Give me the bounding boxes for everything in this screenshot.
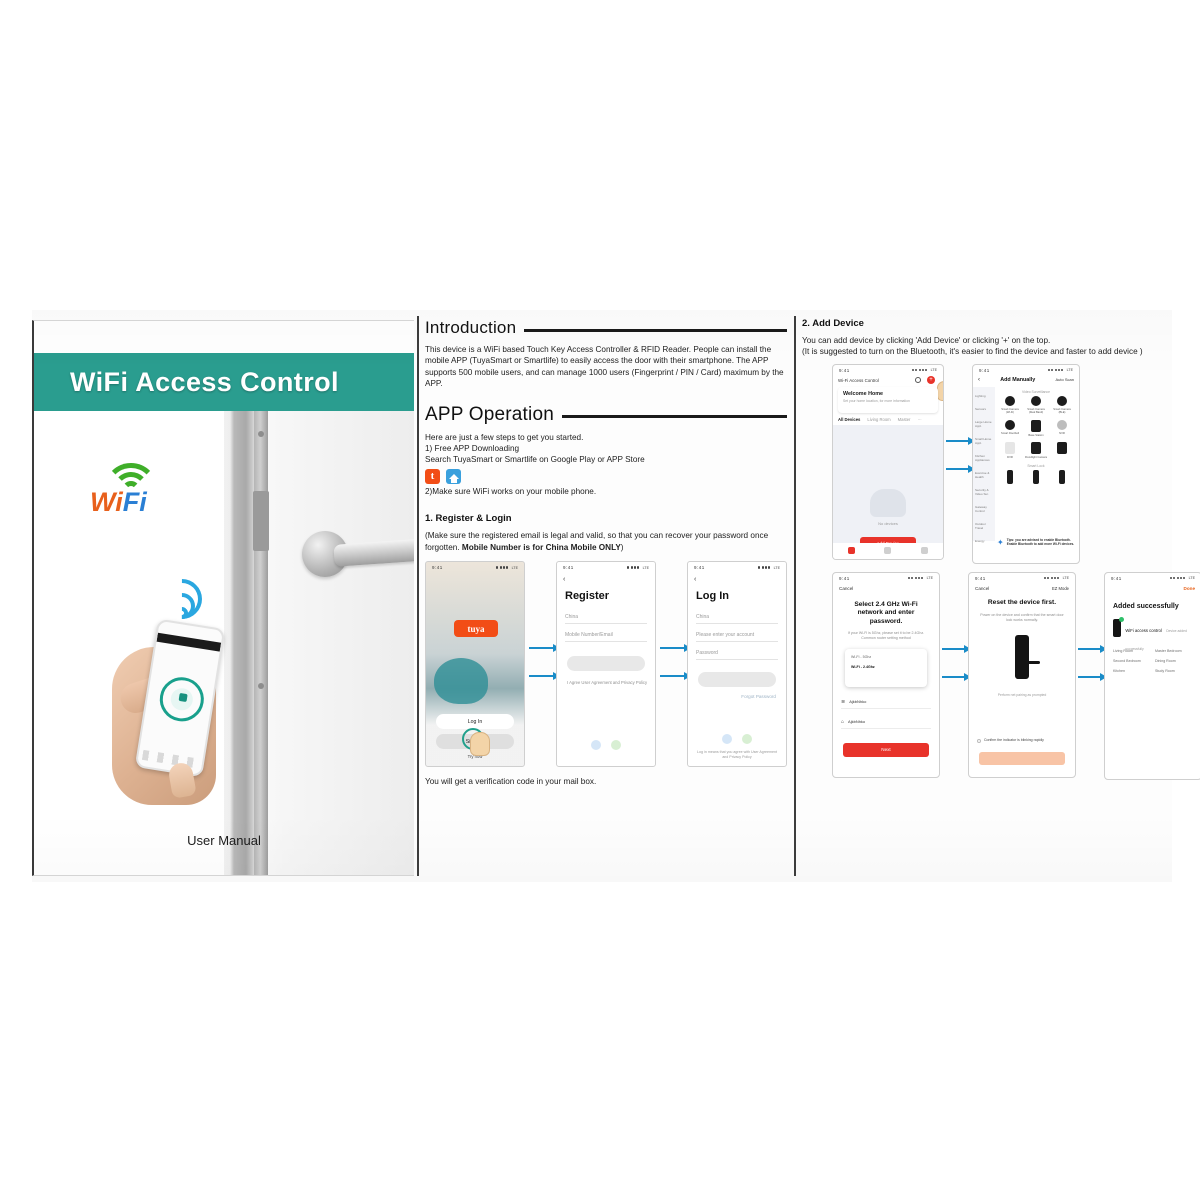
status-icons: LTE bbox=[908, 576, 933, 580]
room-tabs[interactable]: All Devices Living Room Master ··· bbox=[838, 417, 922, 422]
screen-wifi-select: 9:41 LTE Cancel Select 2.4 GHz Wi-Fi net… bbox=[832, 572, 940, 778]
lock-icon: ⌂ bbox=[841, 719, 844, 725]
flow-arrow bbox=[660, 675, 690, 677]
status-time: 9:41 bbox=[563, 565, 574, 570]
checkbox-icon[interactable] bbox=[977, 739, 981, 743]
tab-all-devices[interactable]: All Devices bbox=[838, 417, 860, 422]
social-login-icon bbox=[611, 740, 621, 750]
category-item[interactable]: Outdoor Travel bbox=[973, 518, 995, 535]
wifi-icon: ≋ bbox=[841, 699, 845, 705]
door-lock-illustration bbox=[1015, 635, 1029, 679]
home-header-title[interactable]: Wi-Fi Access Control bbox=[838, 378, 879, 383]
device-type-item[interactable]: Base Station bbox=[1025, 420, 1047, 437]
status-bar: 9:41 LTE bbox=[969, 573, 1075, 584]
bluetooth-icon: ✦ bbox=[997, 538, 1004, 547]
device-type-item[interactable] bbox=[1051, 470, 1073, 486]
welcome-title: Welcome Home bbox=[843, 391, 933, 397]
category-item[interactable]: Sensors bbox=[973, 403, 995, 416]
login-button[interactable] bbox=[698, 672, 776, 687]
status-icons: LTE bbox=[912, 368, 937, 372]
screen-title: Add Manually bbox=[1000, 377, 1035, 383]
flow-arrow bbox=[942, 648, 970, 650]
register-login-note: (Make sure the registered email is legal… bbox=[425, 530, 787, 553]
app-operation-step2: 2)Make sure WiFi works on your mobile ph… bbox=[425, 486, 787, 497]
confirm-text: Confirm the indicator is blinking rapidl… bbox=[984, 738, 1044, 743]
category-item[interactable]: Gateway Control bbox=[973, 501, 995, 518]
screen-added-success: 9:41 LTE Done Added successfully WiFi ac… bbox=[1104, 572, 1200, 780]
add-plus-button[interactable]: + bbox=[927, 376, 935, 384]
bell-icon[interactable] bbox=[915, 377, 921, 383]
screen-login: 9:41 LTE ‹ Log In China Please enter you… bbox=[687, 561, 787, 767]
empty-state-illustration bbox=[870, 489, 906, 517]
device-type-item[interactable]: NVR bbox=[1051, 420, 1073, 437]
door-handle-lever bbox=[333, 537, 414, 567]
pointing-hand-icon bbox=[937, 381, 944, 401]
social-login-icon bbox=[591, 740, 601, 750]
category-item[interactable]: Security & Video Sur. bbox=[973, 484, 995, 501]
status-icons: LTE bbox=[496, 566, 518, 570]
door-lock-plate bbox=[253, 491, 269, 551]
user-manual-label: User Manual bbox=[34, 833, 414, 848]
empty-state-text: No devices bbox=[833, 521, 943, 526]
status-bar: 9:41 LTE bbox=[426, 562, 524, 573]
register-login-heading: 1. Register & Login bbox=[425, 513, 787, 524]
add-device-screens-row2: 9:41 LTE Cancel Select 2.4 GHz Wi-Fi net… bbox=[802, 572, 1172, 784]
introduction-panel: Introduction This device is a WiFi based… bbox=[425, 318, 787, 878]
screen-splash: 9:41 LTE tuya Log In Sign Up Try now bbox=[425, 561, 525, 767]
unlock-button-icon bbox=[157, 674, 207, 724]
flow-arrow bbox=[1078, 648, 1106, 650]
app-store-icons: t bbox=[425, 469, 787, 484]
social-login-icon bbox=[742, 734, 752, 744]
social-login-row[interactable] bbox=[557, 740, 655, 750]
wifi-logo-wi: Wi bbox=[90, 487, 123, 517]
screen-title: Select 2.4 GHz Wi-Fi network and enter p… bbox=[843, 601, 929, 627]
group-title: Smart Lock bbox=[997, 464, 1075, 468]
hand-holding-phone-photo bbox=[112, 613, 232, 813]
app-operation-step1: 1) Free APP Downloading bbox=[425, 443, 787, 454]
room-chip[interactable]: Master Bedroom bbox=[1155, 649, 1193, 653]
device-type-item[interactable]: Smart Camera (Wi-Fi) bbox=[999, 396, 1021, 415]
done-button[interactable]: Done bbox=[1184, 586, 1195, 591]
scanned-manual-spread: WiFi Access Control WiFi bbox=[32, 310, 1172, 882]
back-icon[interactable]: ‹ bbox=[694, 576, 696, 583]
tuya-logo: tuya bbox=[454, 620, 498, 637]
status-time: 9:41 bbox=[432, 565, 443, 570]
room-chip[interactable]: Dining Room bbox=[1155, 659, 1193, 663]
back-icon[interactable]: ‹ bbox=[563, 576, 565, 583]
app-operation-intro: Here are just a few steps to get you sta… bbox=[425, 432, 787, 443]
flow-arrow bbox=[946, 468, 974, 470]
wifi-option-blank bbox=[845, 678, 927, 684]
tab-more[interactable]: ··· bbox=[917, 417, 921, 422]
country-select[interactable]: China bbox=[696, 614, 778, 624]
add-manually-header: ‹ Add Manually Auto Scan bbox=[973, 377, 1079, 383]
status-time: 9:41 bbox=[1111, 576, 1122, 581]
cancel-button[interactable]: Cancel bbox=[975, 586, 989, 591]
flow-arrow bbox=[946, 440, 974, 442]
flow-arrow bbox=[529, 675, 559, 677]
category-item[interactable]: Large Home Appl. bbox=[973, 416, 995, 433]
wifi-logo: WiFi bbox=[90, 461, 170, 533]
tab-me-icon[interactable] bbox=[921, 547, 928, 554]
flow-arrow bbox=[1078, 676, 1106, 678]
wifi-logo-text: WiFi bbox=[90, 487, 147, 518]
confirm-indicator-row[interactable]: Confirm the indicator is blinking rapidl… bbox=[977, 738, 1067, 743]
add-device-line1: You can add device by clicking 'Add Devi… bbox=[802, 335, 1172, 346]
screen-home: 9:41 LTE Wi-Fi Access Control + Welcome … bbox=[832, 364, 944, 560]
login-button[interactable]: Log In bbox=[436, 714, 514, 729]
flow-arrow bbox=[660, 647, 690, 649]
category-item[interactable]: Exercise & Health bbox=[973, 467, 995, 484]
status-icons: LTE bbox=[1044, 576, 1069, 580]
category-item[interactable]: Lighting bbox=[973, 390, 995, 403]
room-chip[interactable]: Living Room bbox=[1113, 649, 1151, 653]
screen-title: Register bbox=[565, 590, 609, 602]
device-type-item[interactable]: Smart Camera (BLE) bbox=[1051, 396, 1073, 415]
next-button[interactable] bbox=[979, 752, 1065, 765]
heading-rule bbox=[562, 415, 787, 418]
app-operation-heading: APP Operation bbox=[425, 404, 554, 426]
screen-title: Log In bbox=[696, 590, 729, 602]
device-name[interactable]: WiFi access control bbox=[1125, 628, 1161, 633]
introduction-heading: Introduction bbox=[425, 318, 516, 338]
agreement-checkbox[interactable]: I Agree User Agreement and Privacy Polic… bbox=[567, 680, 647, 685]
status-bar: 9:41 LTE bbox=[557, 562, 655, 573]
device-type-item[interactable] bbox=[1051, 442, 1073, 459]
device-type-item[interactable]: DVR bbox=[999, 442, 1021, 459]
heading-rule bbox=[524, 329, 787, 332]
bottom-tab-bar[interactable] bbox=[833, 543, 943, 559]
get-code-button[interactable] bbox=[567, 656, 645, 671]
status-bar: 9:41 LTE bbox=[833, 365, 943, 376]
device-list-empty: No devices Add Device bbox=[833, 425, 943, 543]
screen-subtitle: Power on the device and confirm that the… bbox=[979, 613, 1065, 623]
account-input[interactable]: Please enter your account bbox=[696, 632, 778, 642]
status-bar: 9:41 LTE bbox=[1105, 573, 1200, 584]
tab-smart-icon[interactable] bbox=[884, 547, 891, 554]
add-device-panel: 2. Add Device You can add device by clic… bbox=[802, 318, 1172, 878]
screen-subtitle: If your Wi-Fi is 5Ghz, please set it to … bbox=[843, 631, 929, 641]
screen-add-manually: 9:41 LTE ‹ Add Manually Auto Scan Lighti… bbox=[972, 364, 1080, 564]
add-device-screens-row1: 9:41 LTE Wi-Fi Access Control + Welcome … bbox=[802, 364, 1172, 564]
screen-title: Added successfully bbox=[1113, 603, 1179, 610]
wifi-logo-fi: Fi bbox=[123, 487, 147, 517]
account-input[interactable]: Mobile Number/Email bbox=[565, 632, 647, 642]
room-chip[interactable]: Second Bedroom bbox=[1113, 659, 1151, 663]
status-icons: LTE bbox=[627, 566, 649, 570]
status-icons: LTE bbox=[758, 566, 780, 570]
tab-living-room[interactable]: Living Room bbox=[867, 417, 890, 422]
room-chip-grid[interactable]: Living Room Master Bedroom Second Bedroo… bbox=[1113, 649, 1193, 673]
screen-reset-device: 9:41 LTE Cancel EZ Mode Reset the device… bbox=[968, 572, 1076, 778]
cover-panel: WiFi Access Control WiFi bbox=[32, 320, 414, 876]
category-item[interactable]: Small Home Appl. bbox=[973, 433, 995, 450]
app-operation-heading-row: APP Operation bbox=[425, 404, 787, 426]
status-icons: LTE bbox=[1170, 576, 1195, 580]
status-time: 9:41 bbox=[694, 565, 705, 570]
room-chip[interactable]: Kitchen bbox=[1113, 669, 1151, 673]
status-time: 9:41 bbox=[979, 368, 990, 373]
smartlife-app-icon[interactable] bbox=[446, 469, 461, 484]
status-icons: LTE bbox=[1048, 368, 1073, 372]
screen-title: Reset the device first. bbox=[979, 599, 1065, 608]
group-title: Video Surveillance bbox=[997, 390, 1075, 394]
status-time: 9:41 bbox=[839, 576, 850, 581]
ssid-row[interactable]: ≋AjkbNhko bbox=[841, 699, 931, 709]
room-chip[interactable]: Study Room bbox=[1155, 669, 1193, 673]
status-bar: 9:41 LTE bbox=[973, 365, 1079, 376]
flow-arrow bbox=[529, 647, 559, 649]
introduction-paragraph: This device is a WiFi based Touch Key Ac… bbox=[425, 344, 787, 390]
login-footer-note: Log in means that you agree with User Ag… bbox=[696, 750, 778, 760]
add-device-heading: 2. Add Device bbox=[802, 318, 1172, 329]
flow-arrow bbox=[942, 676, 970, 678]
app-operation-step1-detail: Search TuyaSmart or Smartlife on Google … bbox=[425, 454, 787, 465]
screen-register: 9:41 LTE ‹ Register China Mobile Number/… bbox=[556, 561, 656, 767]
device-type-item[interactable]: Floodlight Camera bbox=[1025, 442, 1047, 459]
panel-divider-right bbox=[794, 316, 796, 876]
welcome-sub: Set your home location, for more informa… bbox=[843, 399, 933, 403]
introduction-heading-row: Introduction bbox=[425, 318, 787, 338]
tab-home-icon[interactable] bbox=[848, 547, 855, 554]
welcome-card[interactable]: Welcome Home Set your home location, for… bbox=[838, 387, 938, 413]
password-row[interactable]: ⌂AjkbNhko bbox=[841, 719, 931, 729]
back-icon[interactable]: ‹ bbox=[978, 377, 980, 383]
status-bar: 9:41 LTE bbox=[688, 562, 786, 573]
next-button[interactable]: Next bbox=[843, 743, 929, 757]
register-login-screens: 9:41 LTE tuya Log In Sign Up Try now 9:4… bbox=[425, 561, 787, 771]
door-strike-plate bbox=[254, 373, 268, 875]
bluetooth-tip: ✦ Tips: you are advised to enable Blueto… bbox=[997, 538, 1075, 547]
add-device-line2: (It is suggested to turn on the Bluetoot… bbox=[802, 346, 1172, 357]
status-bar: 9:41 LTE bbox=[833, 573, 939, 584]
wifi-option-5g[interactable]: Wi-Fi - 5Ghz bbox=[845, 652, 927, 662]
cover-title: WiFi Access Control bbox=[70, 367, 339, 398]
cover-banner: WiFi Access Control bbox=[34, 353, 414, 411]
lock-device-icon bbox=[1113, 619, 1121, 637]
pointing-hand-icon bbox=[470, 732, 490, 756]
manual-page: WiFi Access Control WiFi bbox=[0, 0, 1200, 1200]
device-type-item[interactable]: Smart Camera (Dual Band) bbox=[1025, 396, 1047, 415]
category-item[interactable]: Energy bbox=[973, 535, 995, 548]
door-photo bbox=[224, 373, 414, 875]
device-type-grid: Video Surveillance Smart Camera (Wi-Fi) … bbox=[997, 387, 1075, 492]
reset-note: Perform net pairing as prompted bbox=[981, 693, 1063, 697]
wifi-band-popup[interactable]: Wi-Fi - 5Ghz Wi-Fi - 2.4Ghz bbox=[845, 649, 927, 687]
auto-scan-button[interactable]: Auto Scan bbox=[1056, 377, 1074, 382]
status-time: 9:41 bbox=[975, 576, 986, 581]
cancel-button[interactable]: Cancel bbox=[839, 586, 853, 591]
social-login-icon bbox=[722, 734, 732, 744]
country-select[interactable]: China bbox=[565, 614, 647, 624]
tab-master[interactable]: Master bbox=[898, 417, 911, 422]
verification-caption: You will get a verification code in your… bbox=[425, 777, 787, 786]
password-input[interactable]: Password bbox=[696, 650, 778, 660]
bluetooth-tip-text: Tips: you are advised to enable Bluetoot… bbox=[1007, 538, 1075, 546]
social-login-row[interactable] bbox=[688, 734, 786, 744]
tuya-app-icon[interactable]: t bbox=[425, 469, 440, 484]
category-sidebar[interactable]: Lighting Sensors Large Home Appl. Small … bbox=[973, 387, 995, 541]
panel-divider-left bbox=[417, 316, 419, 876]
wifi-option-24g[interactable]: Wi-Fi - 2.4Ghz bbox=[845, 662, 927, 672]
status-time: 9:41 bbox=[839, 368, 850, 373]
category-item[interactable]: Kitchen Appliances bbox=[973, 450, 995, 467]
device-type-item[interactable] bbox=[999, 470, 1021, 486]
device-type-item[interactable] bbox=[1025, 470, 1047, 486]
mode-help-button[interactable]: EZ Mode bbox=[1052, 586, 1069, 591]
device-type-item[interactable]: Smart Doorbell bbox=[999, 420, 1021, 437]
forgot-password-link[interactable]: Forgot Password bbox=[741, 694, 776, 699]
